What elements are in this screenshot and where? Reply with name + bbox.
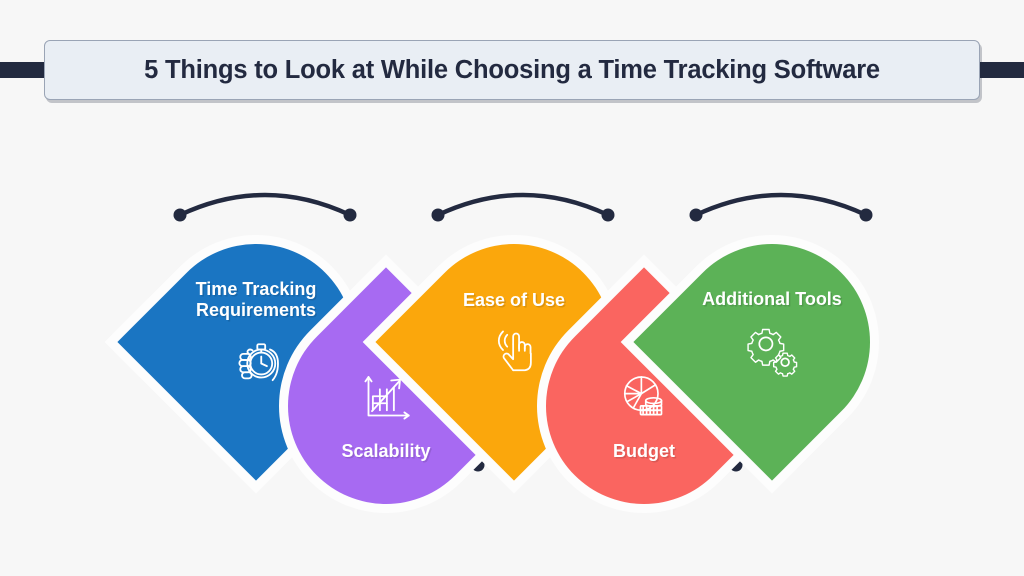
card-body [633, 203, 910, 480]
card-additional-tools[interactable]: Additional Tools [674, 244, 870, 440]
connector-arc-3 [428, 183, 618, 225]
connector-arc-1 [170, 183, 360, 225]
infographic-canvas: 5 Things to Look at While Choosing a Tim… [0, 0, 1024, 576]
title-banner: 5 Things to Look at While Choosing a Tim… [44, 40, 980, 100]
page-title: 5 Things to Look at While Choosing a Tim… [144, 56, 880, 85]
connector-arc-5 [686, 183, 876, 225]
